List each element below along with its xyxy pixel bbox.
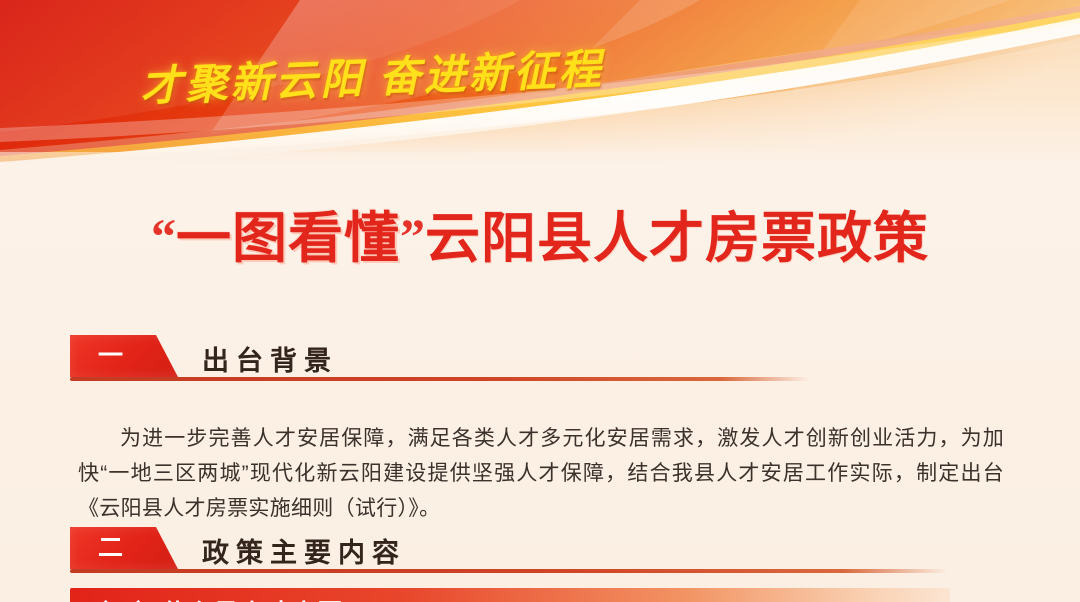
section-rule-1 [70, 377, 810, 381]
section-number-2: 二 [70, 536, 123, 561]
subsection-label: （一）什么是人才房票 [84, 593, 344, 602]
section-heading-1: 出台背景 [202, 337, 338, 379]
title-open-quote: “ [151, 208, 176, 264]
page-title: “一图看懂”云阳县人才房票政策 [0, 198, 1080, 277]
subsection-bar: （一）什么是人才房票 [70, 588, 950, 602]
title-subject: 云阳县人才房票政策 [425, 208, 929, 269]
section-number-badge-1: 一 [70, 335, 178, 377]
banner-header: 才聚新云阳 奋进新征程 [0, 0, 1080, 162]
section-number-1: 一 [70, 344, 123, 369]
section-number-badge-2: 二 [70, 527, 178, 569]
section-heading-2: 政策主要内容 [202, 529, 406, 571]
section-rule-2 [70, 569, 948, 573]
title-emphasis: 一图看懂 [176, 208, 400, 269]
infographic-page: 才聚新云阳 奋进新征程 “一图看懂”云阳县人才房票政策 一 出台背景 为进一步完… [0, 0, 1080, 602]
section-paragraph-1: 为进一步完善人才安居保障，满足各类人才多元化安居需求，激发人才创新创业活力，为加… [78, 421, 1004, 526]
title-close-quote: ” [400, 208, 425, 264]
